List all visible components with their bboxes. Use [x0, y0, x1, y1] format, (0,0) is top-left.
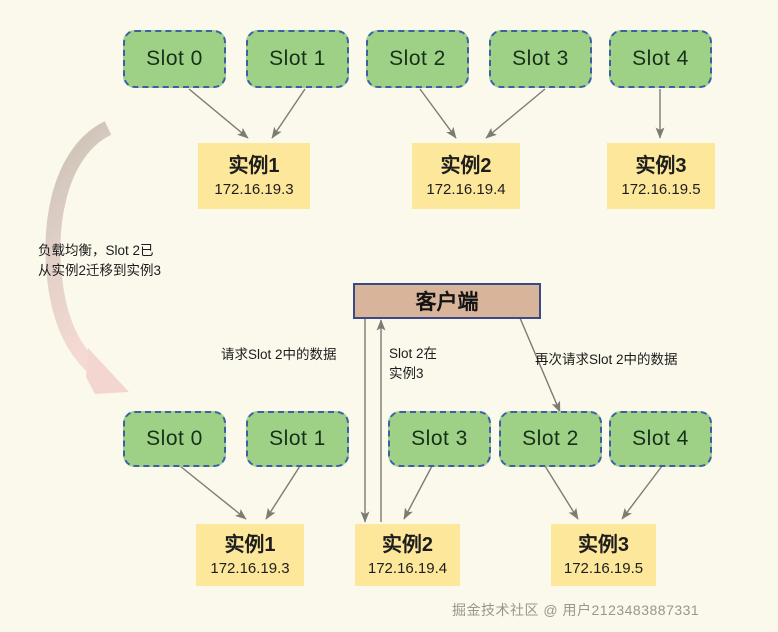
client-label: 客户端	[416, 286, 479, 316]
top-instance-3[interactable]: 实例3 172.16.19.5	[607, 143, 715, 209]
bottom-slot-3-label: Slot 3	[411, 427, 468, 451]
bottom-instance-3[interactable]: 实例3 172.16.19.5	[551, 524, 656, 586]
edge-top-slot1-instance1	[272, 89, 305, 138]
top-connectors	[189, 89, 660, 138]
bottom-instance-2[interactable]: 实例2 172.16.19.4	[355, 524, 460, 586]
top-instance-2-name: 实例2	[440, 154, 491, 179]
bottom-slot-2[interactable]: Slot 2	[499, 411, 602, 467]
top-slot-1-label: Slot 1	[269, 47, 326, 71]
top-slot-0-label: Slot 0	[146, 47, 203, 71]
top-slot-4[interactable]: Slot 4	[609, 30, 712, 88]
label-request-again: 再次请求Slot 2中的数据	[535, 350, 725, 370]
migration-note: 负载均衡，Slot 2已 从实例2迁移到实例3	[38, 241, 218, 282]
bottom-instance-2-ip: 172.16.19.4	[368, 560, 447, 578]
top-slot-3[interactable]: Slot 3	[489, 30, 592, 88]
bottom-slot-2-label: Slot 2	[522, 427, 579, 451]
bottom-instance-1-name: 实例1	[224, 533, 275, 558]
edge-bottom-slot4-instance3	[622, 466, 662, 519]
bottom-connectors	[180, 466, 662, 519]
bottom-instance-3-ip: 172.16.19.5	[564, 560, 643, 578]
diagram-canvas: Slot 0 Slot 1 Slot 2 Slot 3 Slot 4 实例1 1…	[0, 0, 778, 632]
bottom-slot-1[interactable]: Slot 1	[246, 411, 349, 467]
edge-top-slot3-instance2	[486, 89, 545, 138]
watermark-text: 掘金技术社区 @ 用户2123483887331	[452, 600, 699, 620]
top-instance-3-name: 实例3	[635, 154, 686, 179]
edge-bottom-slot2-instance3	[545, 466, 578, 519]
label-redirect-reply: Slot 2在 实例3	[389, 344, 469, 383]
bottom-slot-0[interactable]: Slot 0	[123, 411, 226, 467]
bottom-slot-4-label: Slot 4	[632, 427, 689, 451]
top-slot-1[interactable]: Slot 1	[246, 30, 349, 88]
bottom-slot-4[interactable]: Slot 4	[609, 411, 712, 467]
client-box[interactable]: 客户端	[353, 283, 541, 319]
bottom-slot-1-label: Slot 1	[269, 427, 326, 451]
top-instance-1[interactable]: 实例1 172.16.19.3	[198, 143, 310, 209]
bottom-instance-3-name: 实例3	[578, 533, 629, 558]
top-slot-2-label: Slot 2	[389, 47, 446, 71]
edge-bottom-slot1-instance1	[266, 466, 300, 519]
top-slot-3-label: Slot 3	[512, 47, 569, 71]
bottom-instance-1-ip: 172.16.19.3	[210, 560, 289, 578]
label-request-slot2: 请求Slot 2中的数据	[221, 345, 381, 365]
bottom-instance-1[interactable]: 实例1 172.16.19.3	[196, 524, 304, 586]
top-instance-3-ip: 172.16.19.5	[621, 181, 700, 199]
top-instance-1-ip: 172.16.19.3	[214, 181, 293, 199]
bottom-instance-2-name: 实例2	[382, 533, 433, 558]
top-slot-4-label: Slot 4	[632, 47, 689, 71]
top-slot-2[interactable]: Slot 2	[366, 30, 469, 88]
top-instance-2[interactable]: 实例2 172.16.19.4	[412, 143, 520, 209]
bottom-slot-0-label: Slot 0	[146, 427, 203, 451]
edge-bottom-slot3-instance2	[404, 466, 432, 519]
top-instance-1-name: 实例1	[228, 154, 279, 179]
top-slot-0[interactable]: Slot 0	[123, 30, 226, 88]
edge-top-slot2-instance2	[420, 89, 456, 138]
top-instance-2-ip: 172.16.19.4	[426, 181, 505, 199]
bottom-slot-3[interactable]: Slot 3	[388, 411, 491, 467]
edge-top-slot0-instance1	[189, 89, 248, 138]
edge-bottom-slot0-instance1	[180, 466, 246, 519]
